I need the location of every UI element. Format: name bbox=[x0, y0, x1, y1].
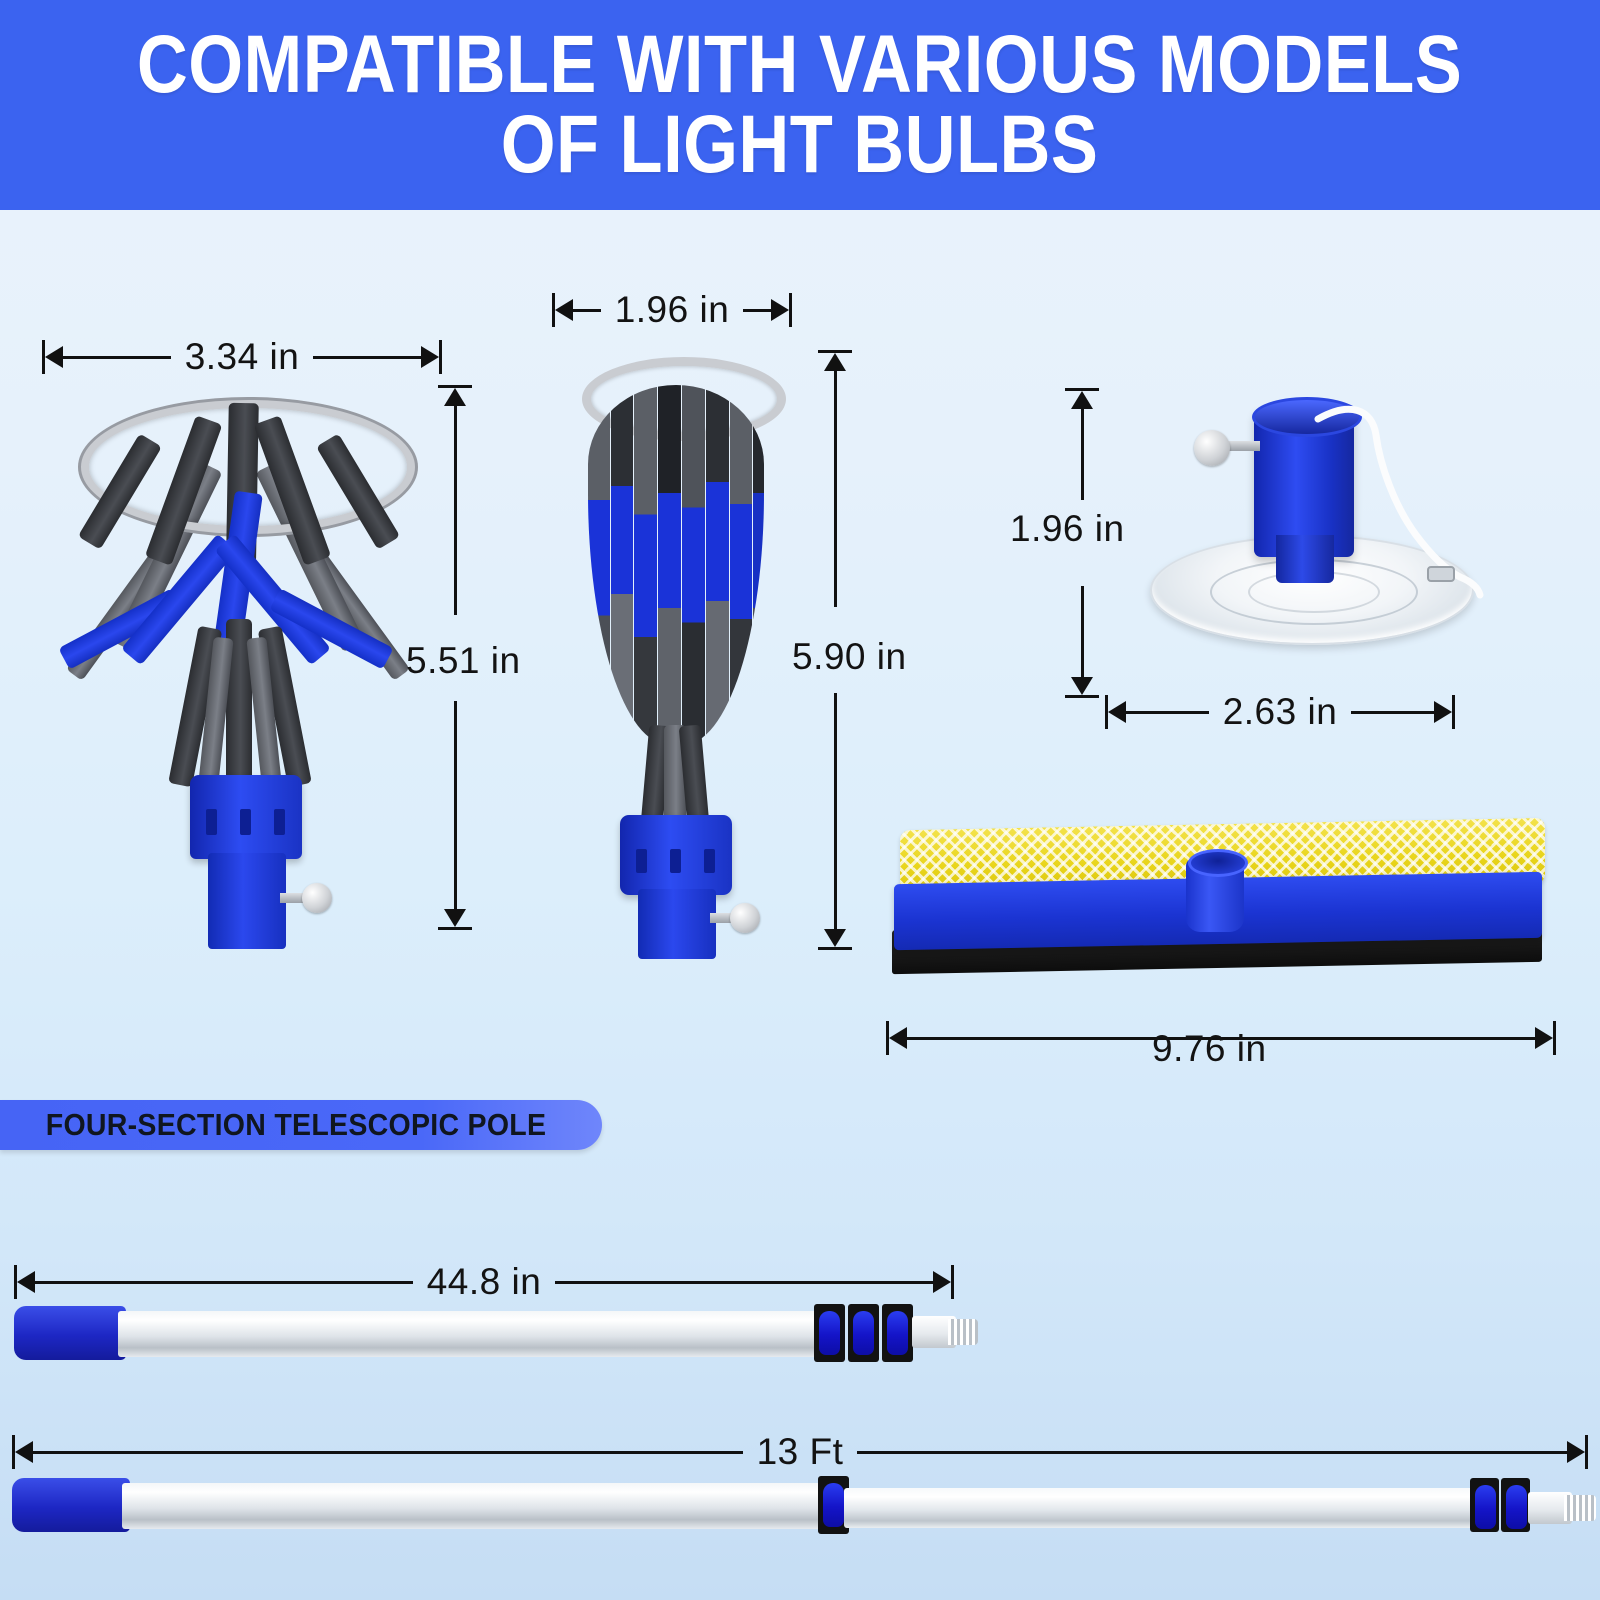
pole-clamp bbox=[848, 1304, 879, 1362]
thumbscrew-knob bbox=[302, 883, 332, 913]
collar bbox=[620, 815, 732, 895]
header-banner: COMPATIBLE WITH VARIOUS MODELS OF LIGHT … bbox=[0, 0, 1600, 210]
dimension-value: 1.96 in bbox=[1010, 508, 1125, 550]
pole-tube-section-1 bbox=[122, 1483, 828, 1529]
collar-slot bbox=[636, 849, 647, 873]
dim-line-left bbox=[1126, 711, 1209, 714]
collar bbox=[190, 775, 302, 859]
cage-stripe bbox=[611, 385, 633, 745]
dim-line-right bbox=[743, 309, 771, 312]
pole-clamp bbox=[882, 1304, 913, 1362]
dim-arrow-left-icon bbox=[15, 1441, 33, 1463]
pole-clamp bbox=[814, 1304, 845, 1362]
dim-arrow-up-icon bbox=[1071, 391, 1093, 409]
dimension-value: 2.63 in bbox=[1209, 691, 1352, 733]
dimension-value: 5.90 in bbox=[792, 636, 907, 678]
dim-line-left bbox=[573, 309, 601, 312]
cage-stripe bbox=[634, 385, 657, 745]
page-title: COMPATIBLE WITH VARIOUS MODELS OF LIGHT … bbox=[120, 25, 1480, 186]
pole-thread bbox=[948, 1319, 978, 1345]
dim-line-left bbox=[63, 356, 171, 359]
collar-slot bbox=[240, 809, 251, 835]
collar-slot bbox=[704, 849, 715, 873]
dim-arrow-left-icon bbox=[17, 1271, 35, 1293]
collar-slot bbox=[206, 809, 217, 835]
gripper-cage bbox=[588, 385, 764, 745]
pole-thread bbox=[1564, 1495, 1596, 1521]
dim-arrow-up-icon bbox=[824, 353, 846, 371]
dim-cap-right bbox=[951, 1265, 954, 1299]
dim-arrow-left-icon bbox=[45, 346, 63, 368]
pole-clamp bbox=[1501, 1478, 1530, 1532]
dim-arrow-up-icon bbox=[444, 388, 466, 406]
pole-neck bbox=[638, 889, 716, 959]
product-squeegee bbox=[890, 820, 1550, 1000]
dim-cap-right bbox=[1553, 1021, 1556, 1055]
infographic-page: COMPATIBLE WITH VARIOUS MODELS OF LIGHT … bbox=[0, 0, 1600, 1600]
dim-arrow-down-icon bbox=[444, 909, 466, 927]
product-pole-extended bbox=[12, 1470, 1592, 1540]
collar-slot bbox=[670, 849, 681, 873]
dim-line-top bbox=[834, 371, 837, 607]
dim-line-top bbox=[454, 406, 457, 615]
dim-cap-right bbox=[789, 293, 792, 327]
thumbscrew-knob bbox=[1194, 430, 1230, 466]
product-bulb-changer-closed bbox=[560, 345, 790, 955]
pole-tube bbox=[118, 1311, 828, 1357]
dim-cap-bottom bbox=[438, 927, 472, 930]
pole-grip bbox=[14, 1306, 126, 1360]
pole-neck bbox=[208, 853, 286, 949]
product-pole-collapsed bbox=[14, 1300, 974, 1370]
dim-cap-right bbox=[439, 340, 442, 374]
dim-arrow-left-icon bbox=[555, 299, 573, 321]
dim-arrow-right-icon bbox=[1535, 1027, 1553, 1049]
section-label-telescopic-pole: FOUR-SECTION TELESCOPIC POLE bbox=[0, 1100, 602, 1150]
dim-arrow-right-icon bbox=[1567, 1441, 1585, 1463]
cage-stripe bbox=[588, 385, 610, 745]
pole-tube-section-2 bbox=[844, 1488, 1478, 1528]
section-label-text: FOUR-SECTION TELESCOPIC POLE bbox=[46, 1107, 547, 1143]
clamp-lever bbox=[853, 1311, 874, 1355]
dim-line-right bbox=[857, 1451, 1567, 1454]
dimension-open-changer-width: 3.34 in bbox=[42, 337, 442, 377]
dim-arrow-down-icon bbox=[1071, 677, 1093, 695]
clamp-lever bbox=[1475, 1485, 1496, 1529]
collar-slot bbox=[274, 809, 285, 835]
dim-line-bottom bbox=[834, 693, 837, 929]
dim-line-right bbox=[555, 1281, 933, 1284]
dim-arrow-right-icon bbox=[771, 299, 789, 321]
dimension-value: 1.96 in bbox=[601, 289, 744, 331]
suction-cord-icon bbox=[1310, 395, 1490, 605]
dimension-value: 5.51 in bbox=[406, 640, 521, 682]
dim-arrow-right-icon bbox=[933, 1271, 951, 1293]
product-bulb-changer-open bbox=[40, 375, 440, 935]
dim-line-left bbox=[33, 1451, 743, 1454]
cage-stripe bbox=[730, 385, 752, 745]
dimension-value: 9.76 in bbox=[1152, 1028, 1267, 1070]
clamp-lever bbox=[819, 1311, 840, 1355]
pole-socket bbox=[1186, 858, 1244, 932]
dim-line-right bbox=[313, 356, 421, 359]
product-suction-cup bbox=[1120, 385, 1480, 655]
pole-clamp bbox=[1470, 1478, 1499, 1532]
clamp-lever bbox=[823, 1483, 844, 1527]
pole-grip bbox=[12, 1478, 130, 1532]
dim-arrow-right-icon bbox=[1434, 701, 1452, 723]
dimension-pole-collapsed: 44.8 in bbox=[14, 1262, 954, 1302]
dimension-value: 3.34 in bbox=[171, 336, 314, 378]
dimension-suction-width: 2.63 in bbox=[1105, 692, 1455, 732]
cage-stripe bbox=[658, 385, 681, 745]
dim-line-bottom bbox=[454, 701, 457, 910]
dimension-pole-extended: 13 Ft bbox=[12, 1432, 1588, 1472]
dim-arrow-left-icon bbox=[889, 1027, 907, 1049]
dim-line-bottom bbox=[1081, 586, 1084, 677]
dim-cap-bottom bbox=[1065, 695, 1099, 698]
cage-stripe bbox=[753, 385, 764, 745]
dimension-closed-changer-width: 1.96 in bbox=[552, 290, 792, 330]
dim-arrow-right-icon bbox=[421, 346, 439, 368]
dim-cap-bottom bbox=[818, 947, 852, 950]
dim-cap-right bbox=[1452, 695, 1455, 729]
dim-cap-right bbox=[1585, 1435, 1588, 1469]
dim-line-right bbox=[1351, 711, 1434, 714]
dim-line-top bbox=[1081, 409, 1084, 500]
dim-line-left bbox=[35, 1281, 413, 1284]
thumbscrew-knob bbox=[730, 903, 760, 933]
cage-stripe bbox=[682, 385, 705, 745]
dim-arrow-down-icon bbox=[824, 929, 846, 947]
cage-stripe bbox=[706, 385, 729, 745]
clamp-lever bbox=[887, 1311, 908, 1355]
dim-arrow-left-icon bbox=[1108, 701, 1126, 723]
clamp-lever bbox=[1506, 1485, 1527, 1529]
dimension-value: 13 Ft bbox=[743, 1431, 858, 1473]
dimension-value: 44.8 in bbox=[413, 1261, 556, 1303]
